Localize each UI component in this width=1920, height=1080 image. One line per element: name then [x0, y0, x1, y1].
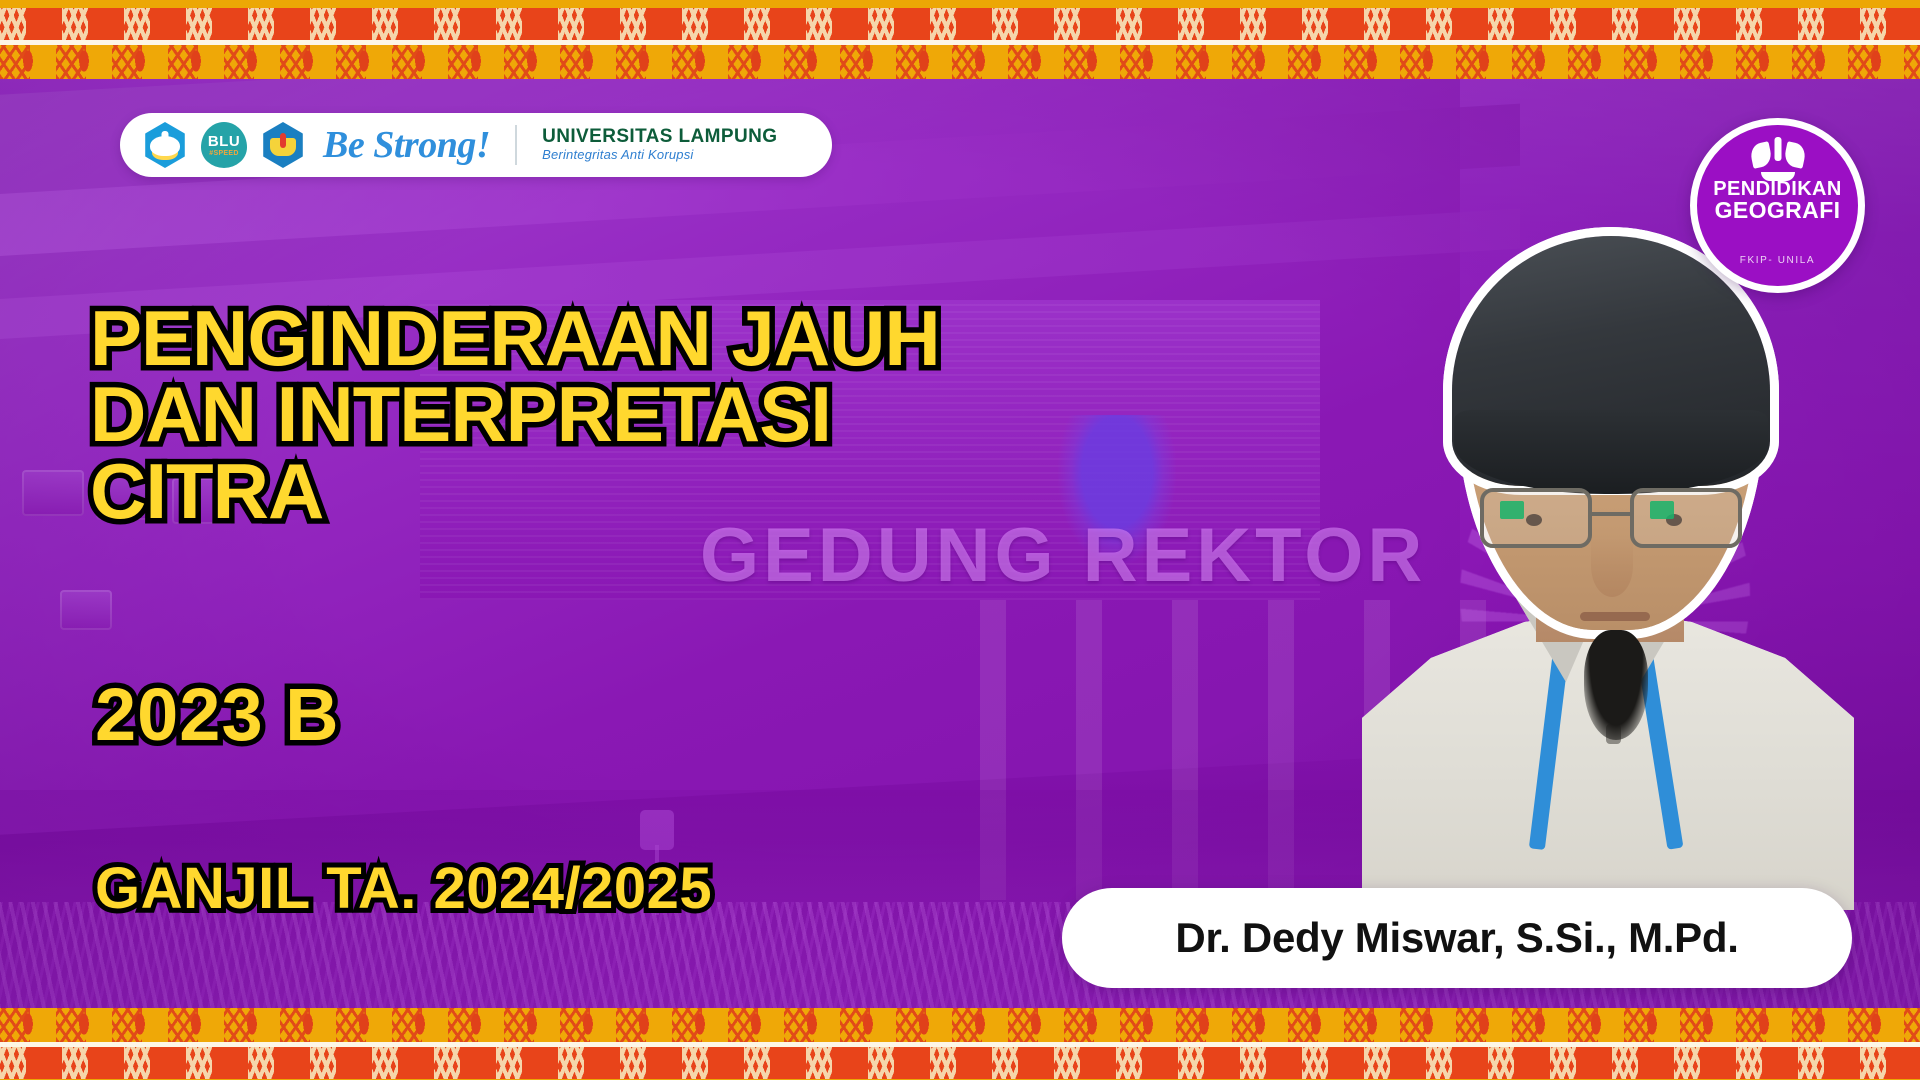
presenter-goatee [1584, 630, 1648, 740]
ornamental-border-bottom [0, 1008, 1920, 1080]
course-class-code: 2023 B [95, 672, 340, 757]
title-line-1: PENGINDERAAN JAUH [90, 300, 940, 376]
academic-term: GANJIL TA. 2024/2025 [95, 855, 712, 922]
border-amber-band [0, 45, 1920, 79]
border-red-band [0, 8, 1920, 40]
eyeglass-bridge [1592, 512, 1630, 516]
border-amber-band [0, 1008, 1920, 1042]
badge-subtitle: FKIP- UNILA [1697, 255, 1858, 266]
university-tagline: Berintegritas Anti Korupsi [542, 147, 777, 163]
be-strong-slogan: Be Strong! [323, 126, 490, 164]
presenter-mouth [1580, 612, 1650, 621]
presenter-name-pill: Dr. Dedy Miswar, S.Si., M.Pd. [1062, 888, 1852, 988]
universitas-lampung-logo [260, 122, 306, 168]
slide-title: PENGINDERAAN JAUH DAN INTERPRETASI CITRA [90, 300, 940, 529]
tut-wuri-handayani-logo [142, 122, 188, 168]
blu-logo-label: BLU [208, 134, 240, 149]
badge-line-2: GEOGRAFI [1715, 199, 1841, 222]
ornamental-border-top [0, 0, 1920, 70]
program-badge: PENDIDIKAN GEOGRAFI FKIP- UNILA [1690, 118, 1865, 293]
presentation-slide: GEDUNG REKTOR BLU #SPEED Be Strong! UN [0, 0, 1920, 1080]
institution-logo-bar: BLU #SPEED Be Strong! UNIVERSITAS LAMPUN… [120, 113, 832, 177]
presenter-name-text: Dr. Dedy Miswar, S.Si., M.Pd. [1175, 914, 1738, 962]
presenter-nose [1591, 535, 1633, 597]
badge-line-1: PENDIDIKAN [1713, 179, 1841, 199]
eyeglass-lens-left [1480, 488, 1592, 548]
eyeglass-lens-right [1630, 488, 1742, 548]
university-name: UNIVERSITAS LAMPUNG [542, 127, 777, 147]
logo-bar-divider [515, 125, 517, 165]
border-gold-line [0, 0, 1920, 8]
blu-logo: BLU #SPEED [201, 122, 247, 168]
blu-logo-sublabel: #SPEED [209, 150, 238, 157]
university-name-block: UNIVERSITAS LAMPUNG Berintegritas Anti K… [542, 127, 777, 163]
title-line-2: DAN INTERPRETASI [90, 376, 940, 452]
title-line-3: CITRA [90, 453, 940, 529]
border-red-band [0, 1047, 1920, 1079]
unila-crest-icon [1751, 137, 1805, 175]
